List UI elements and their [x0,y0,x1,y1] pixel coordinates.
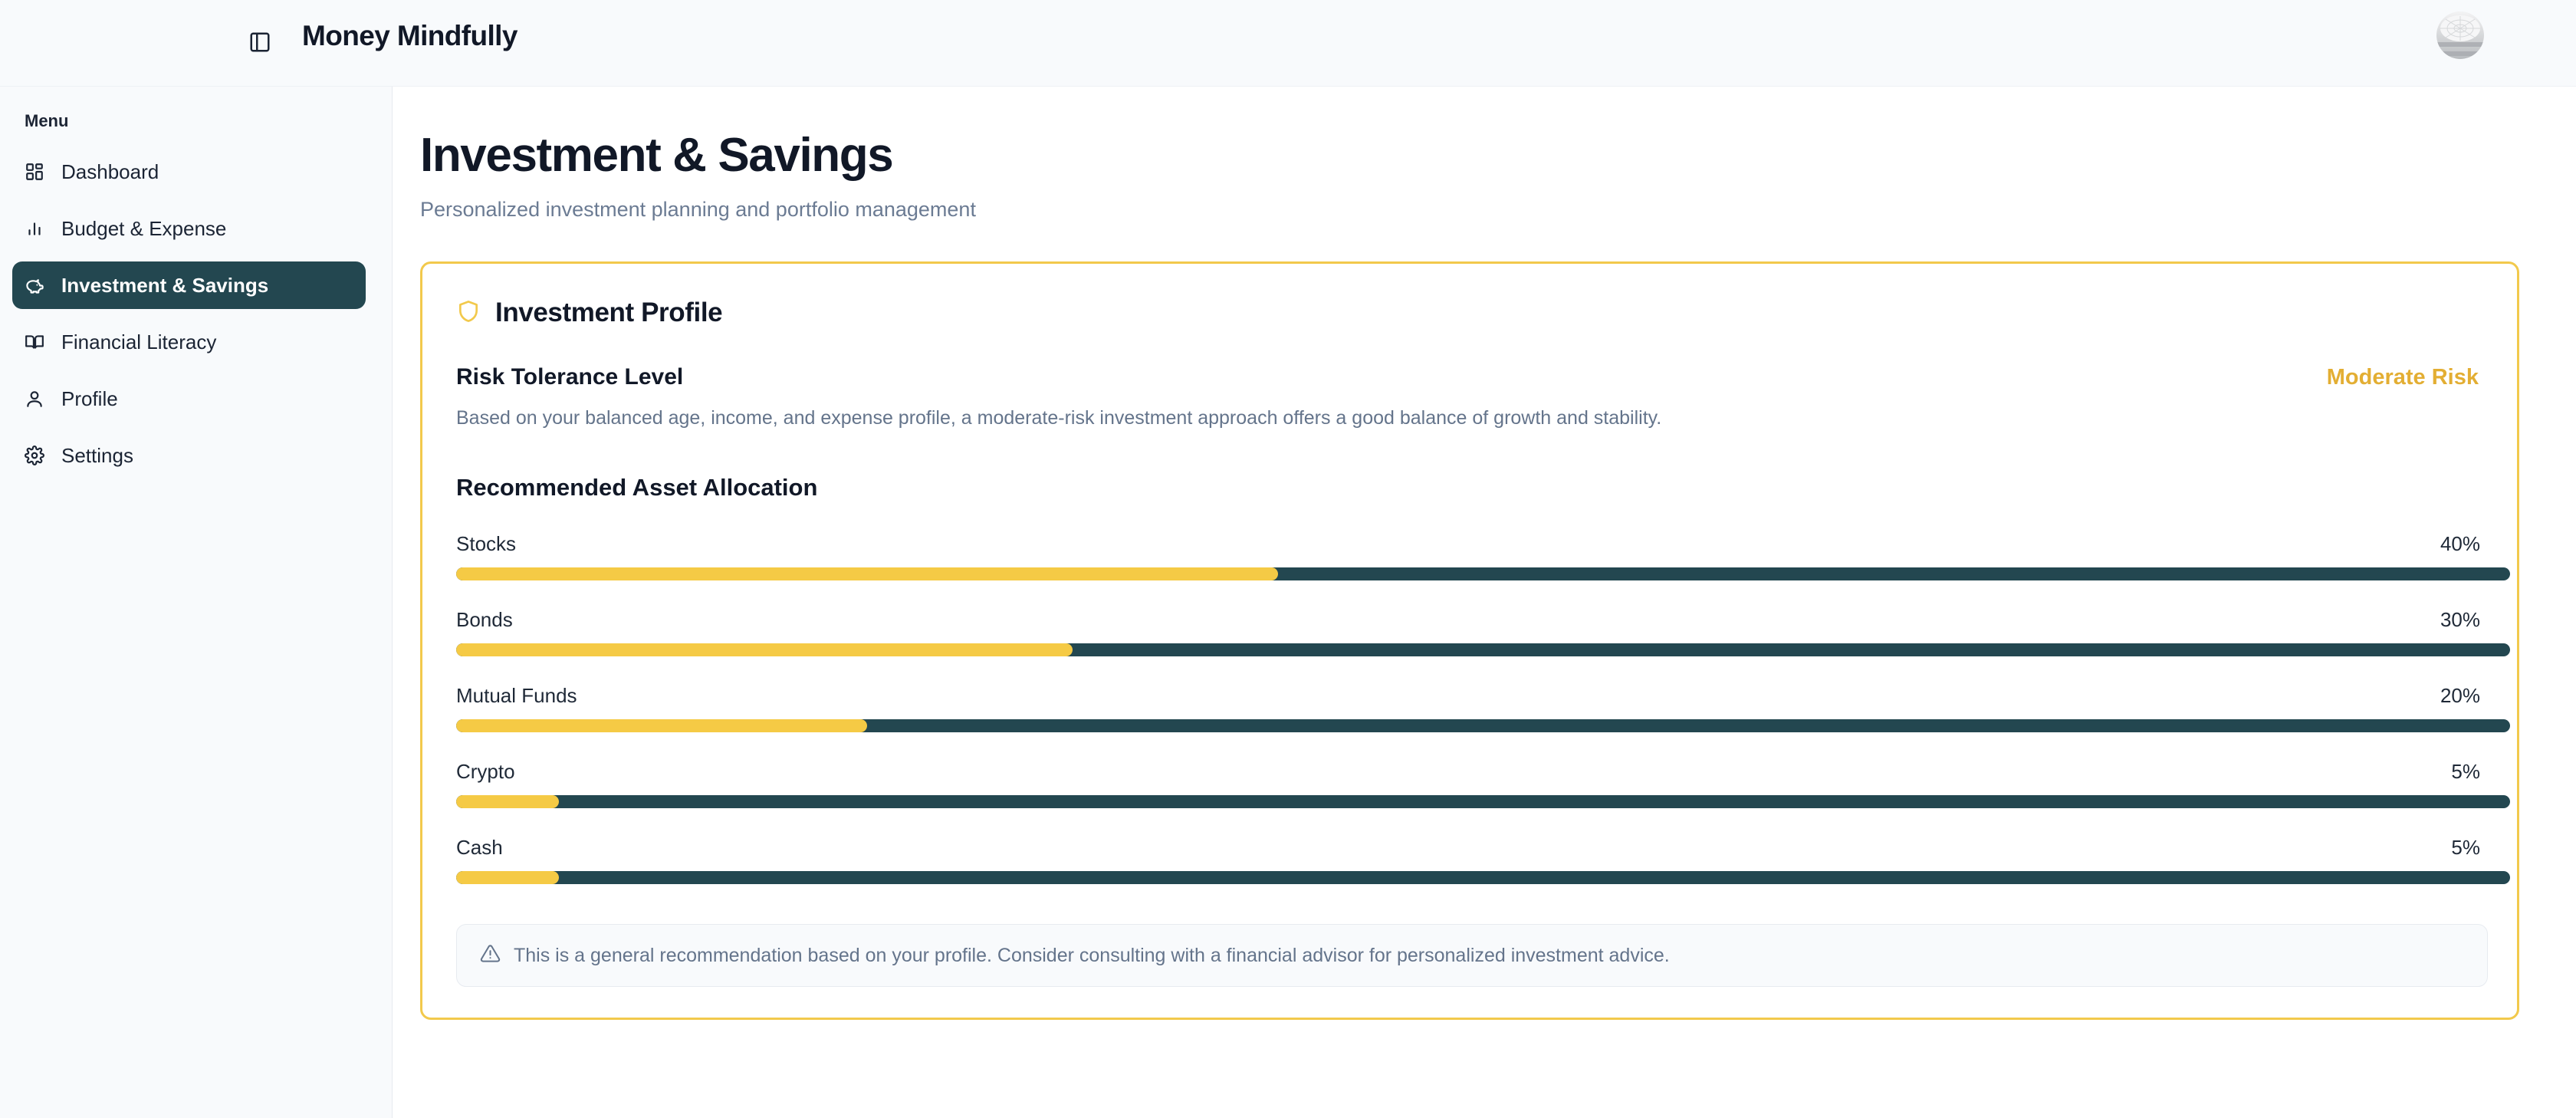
card-title: Investment Profile [495,298,722,328]
book-open-icon [25,332,52,352]
disclaimer-text: This is a general recommendation based o… [514,945,1670,967]
sidebar-item-investment-savings[interactable]: Investment & Savings [12,261,366,309]
investment-profile-card: Investment Profile Risk Tolerance Level … [420,261,2519,1020]
sidebar-item-label: Profile [61,387,118,411]
page-title: Investment & Savings [420,130,2521,180]
sidebar-item-label: Financial Literacy [61,330,216,354]
allocation-row: Crypto 5% [456,760,2486,808]
allocation-progress-fill [456,719,867,732]
allocation-label: Cash [456,836,503,860]
allocation-progress-bar [456,643,2510,656]
page-subtitle: Personalized investment planning and por… [420,198,2521,222]
allocation-percent: 30% [2440,608,2486,632]
sidebar-item-label: Settings [61,444,133,468]
allocation-percent: 40% [2440,532,2486,556]
allocation-label: Mutual Funds [456,684,577,708]
sidebar-item-profile[interactable]: Profile [12,375,366,423]
warning-triangle-icon [480,943,501,968]
disclaimer-note: This is a general recommendation based o… [456,924,2488,987]
bar-chart-icon [25,219,52,238]
shield-icon [456,299,481,327]
sidebar-item-dashboard[interactable]: Dashboard [12,148,366,196]
allocation-label: Stocks [456,532,516,556]
risk-tolerance-row: Risk Tolerance Level Moderate Risk [456,364,2486,390]
allocation-percent: 5% [2451,760,2486,784]
user-icon [25,389,52,409]
allocation-progress-fill [456,643,1073,656]
allocation-row: Bonds 30% [456,608,2486,656]
brand-title: Money Mindfully [302,20,517,52]
gear-icon [25,446,52,465]
main-content: Investment & Savings Personalized invest… [393,87,2576,1118]
allocation-progress-bar [456,871,2510,884]
allocation-progress-bar [456,719,2510,732]
sidebar-item-budget-expense[interactable]: Budget & Expense [12,205,366,252]
allocation-progress-bar [456,795,2510,808]
grid-icon [25,162,52,182]
allocation-percent: 5% [2451,836,2486,860]
allocation-label: Crypto [456,760,515,784]
allocation-progress-fill [456,795,559,808]
allocation-label: Bonds [456,608,513,632]
allocation-progress-fill [456,871,559,884]
sidebar-section-label: Menu [0,111,392,131]
sidebar-item-settings[interactable]: Settings [12,432,366,479]
asset-allocation-list: Stocks 40% Bonds 30% Mutual Funds [456,532,2486,884]
allocation-percent: 20% [2440,684,2486,708]
sidebar-item-financial-literacy[interactable]: Financial Literacy [12,318,366,366]
sidebar-item-label: Dashboard [61,160,159,184]
avatar[interactable] [2436,12,2484,59]
allocation-row: Mutual Funds 20% [456,684,2486,732]
card-header: Investment Profile [456,298,2486,328]
sidebar-toggle-button[interactable] [244,28,276,60]
sidebar-item-label: Budget & Expense [61,217,226,241]
risk-level-badge: Moderate Risk [2327,365,2486,390]
piggy-bank-icon [25,275,52,296]
allocation-progress-bar [456,567,2510,580]
sidebar-item-label: Investment & Savings [61,274,268,298]
sidebar: Menu Dashboard Budget & Expense Investme… [0,87,393,1118]
risk-tolerance-label: Risk Tolerance Level [456,364,683,390]
allocation-heading: Recommended Asset Allocation [456,474,2486,501]
panel-left-icon [248,31,271,58]
top-bar: Money Mindfully [0,0,2576,87]
allocation-row: Stocks 40% [456,532,2486,580]
risk-description: Based on your balanced age, income, and … [456,407,2486,429]
allocation-row: Cash 5% [456,836,2486,884]
allocation-progress-fill [456,567,1278,580]
